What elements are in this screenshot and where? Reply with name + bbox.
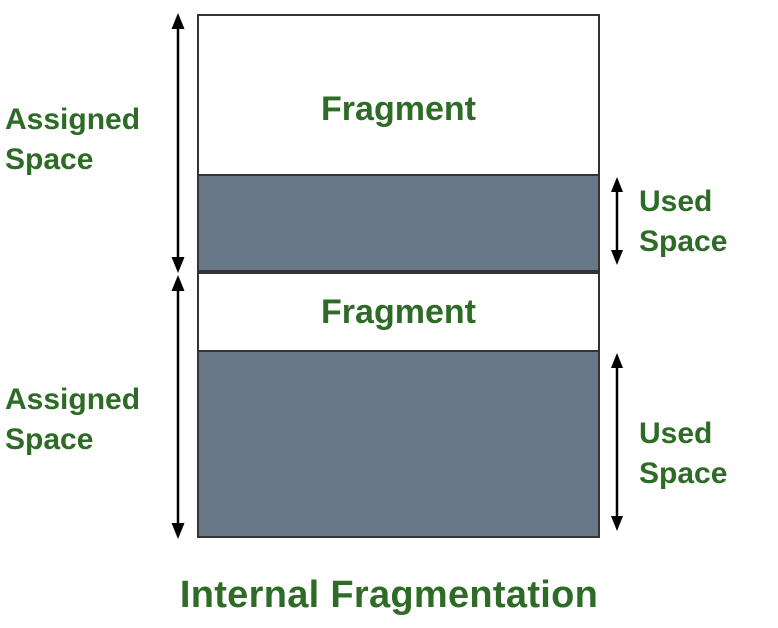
assigned-space-label-2: Assigned Space: [5, 380, 140, 459]
used-space-arrow-2: [607, 352, 627, 532]
diagram-canvas: Fragment Fragment Assigned Space Assigne…: [0, 0, 778, 628]
memory-block-2: Fragment: [197, 272, 600, 538]
memory-block-1: Fragment: [197, 14, 600, 272]
block-2-used-segment: [199, 350, 598, 536]
block-1-used-segment: [199, 174, 598, 270]
assigned-space-arrow-2: [168, 274, 188, 540]
assigned-space-arrow-1: [168, 12, 188, 274]
block-1-fragment-label: Fragment: [321, 92, 476, 126]
block-2-fragment-segment: Fragment: [199, 274, 598, 350]
diagram-caption: Internal Fragmentation: [0, 574, 778, 617]
used-space-label-1: Used Space: [639, 182, 727, 261]
used-space-arrow-1: [607, 176, 627, 266]
block-2-fragment-label: Fragment: [321, 295, 476, 329]
assigned-space-label-1: Assigned Space: [5, 100, 140, 179]
used-space-label-2: Used Space: [639, 414, 727, 493]
block-1-fragment-segment: Fragment: [199, 16, 598, 174]
